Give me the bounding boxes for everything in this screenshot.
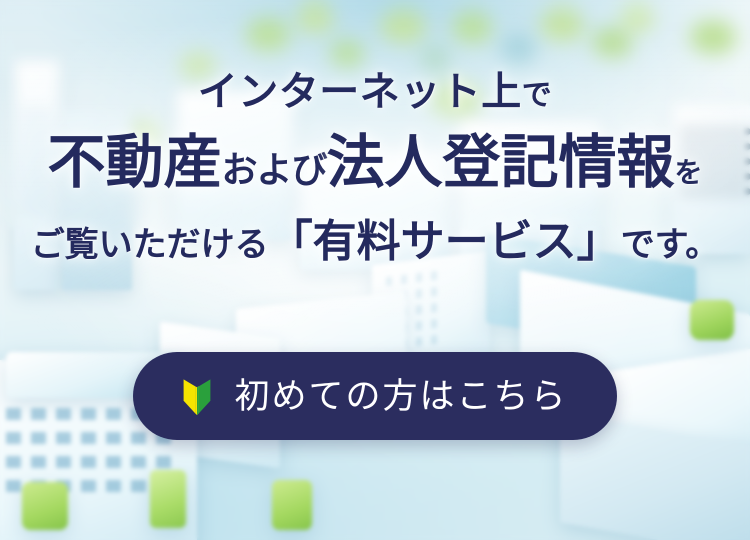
headline-line3-lead: ご覧いただける — [31, 226, 269, 264]
first-time-visitor-button-label: 初めての方はこちら — [234, 379, 567, 414]
headline-line-2: 不動産および法人登記情報を — [47, 134, 702, 192]
headline-line3-tail: です。 — [621, 226, 720, 264]
headline-line-3: ご覧いただける「有料サービス」です。 — [31, 220, 720, 264]
headline-emphasis-paid-service: 「有料サービス」 — [269, 217, 621, 266]
promo-banner: インターネット上で 不動産および法人登記情報を ご覧いただける「有料サービス」で… — [0, 0, 750, 540]
headline-line1-main: インターネット上 — [198, 70, 522, 114]
headline-keyword-real-estate: 不動産 — [47, 130, 221, 195]
banner-content: インターネット上で 不動産および法人登記情報を ご覧いただける「有料サービス」で… — [0, 0, 750, 540]
shoshinsha-leaf-mark-icon — [182, 377, 212, 415]
headline-line2-particle: を — [675, 157, 703, 188]
headline-line1-tail: で — [522, 79, 553, 112]
headline-keyword-corporate-registry: 法人登記情報 — [327, 130, 675, 195]
headline-conjunction: および — [221, 149, 326, 190]
first-time-visitor-button[interactable]: 初めての方はこちら — [133, 352, 617, 440]
headline-line-1: インターネット上で — [198, 72, 553, 112]
